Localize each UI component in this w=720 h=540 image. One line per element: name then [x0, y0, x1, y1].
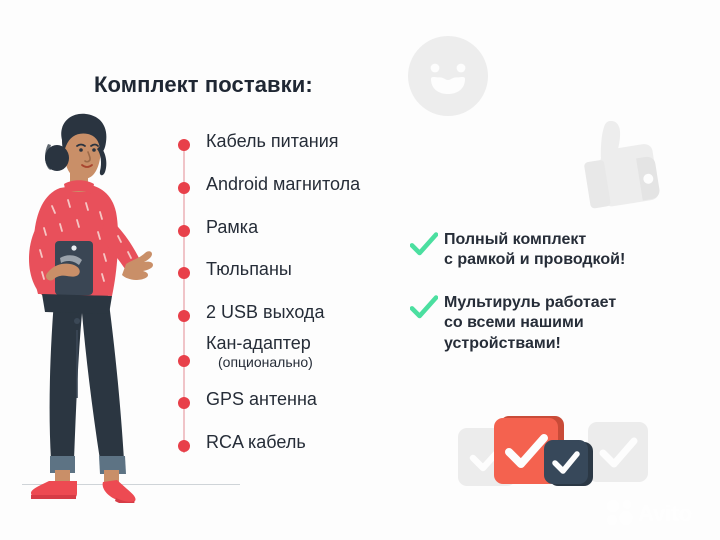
checkbox-gray-right: [588, 422, 648, 482]
smiley-face-icon: [404, 32, 492, 120]
bullet-dot-icon: [178, 267, 190, 279]
list-item-label: 2 USB выхода: [206, 302, 324, 323]
bullet-dot-icon: [178, 225, 190, 237]
list-item-label: Кабель питания: [206, 131, 339, 152]
bullet-dot-icon: [178, 440, 190, 452]
poster-canvas: Комплект поставки: Кабель питания Androi…: [0, 0, 720, 540]
list-item-label: Кан-адаптер (опционально): [206, 333, 313, 371]
list-item-label-note: (опционально): [218, 354, 313, 372]
checkbox-cluster-graphic: [458, 408, 648, 492]
list-item-label: Рамка: [206, 217, 258, 238]
bullet-dot-icon: [178, 310, 190, 322]
list-item-label: GPS антенна: [206, 389, 317, 410]
thumbs-up-icon: [562, 105, 678, 221]
list-item-label: Тюльпаны: [206, 259, 292, 280]
benefit-item: Мультируль работает со всеми нашими устр…: [410, 293, 690, 354]
page-title: Комплект поставки:: [94, 72, 313, 98]
woman-with-tablet-illustration: [8, 108, 178, 503]
benefits-block: Полный комплект с рамкой и проводкой! Му…: [410, 230, 690, 372]
list-item-label: Android магнитола: [206, 174, 360, 195]
benefit-text: Полный комплект с рамкой и проводкой!: [444, 230, 690, 271]
list-item: GPS антенна: [178, 389, 317, 410]
check-icon: [410, 232, 438, 258]
bullet-dot-icon: [178, 139, 190, 151]
bullet-dot-icon: [178, 182, 190, 194]
bullet-dot-icon: [178, 397, 190, 409]
benefit-item: Полный комплект с рамкой и проводкой!: [410, 230, 690, 271]
benefit-text: Мультируль работает со всеми нашими устр…: [444, 293, 690, 354]
list-item: Тюльпаны: [178, 259, 292, 280]
checkbox-dark: [544, 440, 588, 484]
svg-text:Avito: Avito: [638, 501, 692, 526]
avito-watermark: Avito: [604, 497, 708, 527]
bullet-dot-icon: [178, 355, 190, 367]
list-item: Android магнитола: [178, 174, 360, 195]
list-item: Рамка: [178, 217, 258, 238]
list-item: RCA кабель: [178, 432, 306, 453]
list-item-label: RCA кабель: [206, 432, 306, 453]
list-item: Кабель питания: [178, 131, 339, 152]
list-item: 2 USB выхода: [178, 302, 324, 323]
check-icon: [410, 295, 438, 321]
list-item-label-main: Кан-адаптер: [206, 333, 311, 353]
list-item: Кан-адаптер (опционально): [178, 333, 313, 371]
